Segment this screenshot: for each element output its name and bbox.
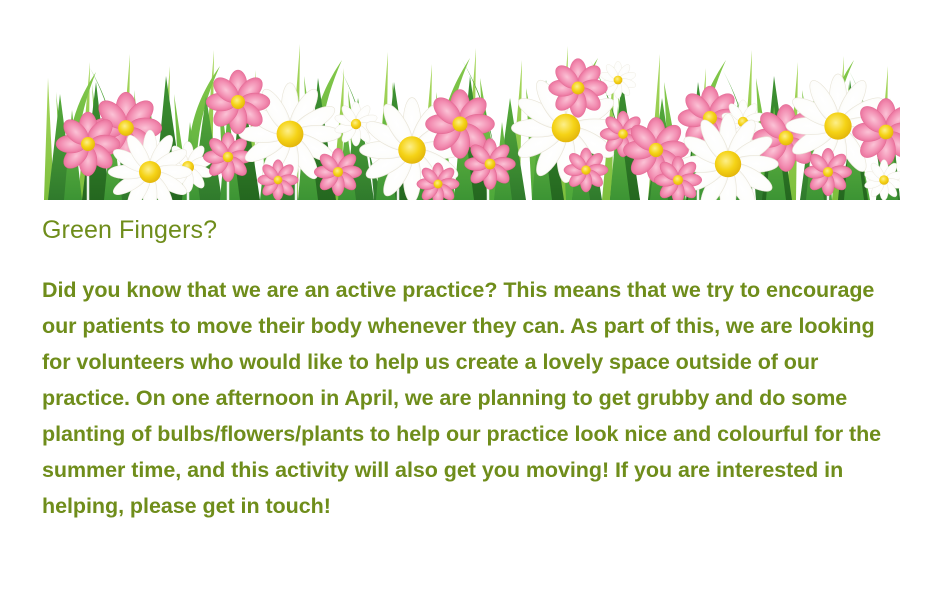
banner-artwork <box>38 32 900 200</box>
pink-cosmos-flower <box>206 70 270 134</box>
spring-grass-flowers-banner <box>38 32 900 200</box>
poster-page: Green Fingers? Did you know that we are … <box>0 0 943 602</box>
article-content: Green Fingers? Did you know that we are … <box>42 214 890 524</box>
page-title: Green Fingers? <box>42 214 890 246</box>
small-pink-daisy <box>804 148 852 196</box>
article-body-text: Did you know that we are an active pract… <box>42 272 887 524</box>
small-pink-daisy <box>654 156 702 200</box>
pink-cosmos-flower <box>549 59 608 118</box>
pink-cosmos-flower <box>56 112 120 176</box>
small-pink-daisy <box>314 148 362 196</box>
small-pink-daisy <box>564 148 608 192</box>
small-pink-daisy <box>258 160 299 200</box>
small-pink-daisy <box>465 139 516 190</box>
